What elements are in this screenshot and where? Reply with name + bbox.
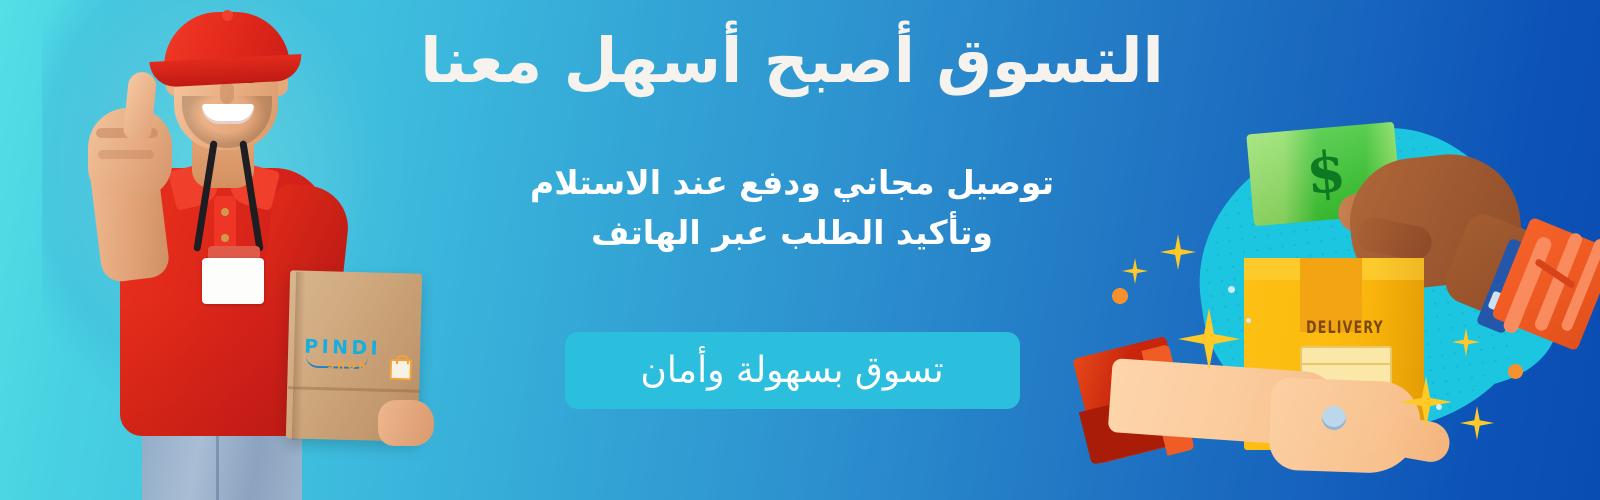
sparkle-icon-right-large bbox=[1400, 376, 1452, 428]
cta-row: تسوق بسهولة وأمان bbox=[396, 332, 1188, 409]
nose bbox=[220, 82, 234, 104]
shop-now-button[interactable]: تسوق بسهولة وأمان bbox=[565, 332, 1020, 409]
sparkle-icon-right-mid bbox=[1460, 406, 1494, 440]
id-badge bbox=[202, 258, 264, 304]
page-title: التسوق أصبح أسهل معنا bbox=[396, 18, 1188, 104]
promo-banner: PINDI SHOP $ DELIVERY bbox=[0, 0, 1600, 500]
logo-subtext: SHOP bbox=[328, 361, 369, 372]
orange-dot-right bbox=[1508, 364, 1523, 379]
subheading: توصيل مجاني ودفع عند الاستلام وتأكيد الط… bbox=[396, 158, 1188, 258]
delivery-man-photo: PINDI SHOP bbox=[42, 0, 402, 500]
shirt-button-bottom bbox=[221, 234, 229, 242]
delivery-text: DELIVERY bbox=[1292, 318, 1399, 342]
knuckle-line-lower bbox=[98, 150, 154, 159]
smile bbox=[202, 104, 254, 124]
cap-button bbox=[222, 10, 233, 21]
white-dot-2 bbox=[1246, 318, 1251, 323]
subheading-line-2: وتأكيد الطلب عبر الهاتف bbox=[396, 208, 1188, 258]
dollar-sign-icon: $ bbox=[1303, 140, 1348, 205]
white-dot-3 bbox=[1436, 404, 1442, 410]
banner-content: التسوق أصبح أسهل معنا توصيل مجاني ودفع ع… bbox=[396, 0, 1188, 500]
subheading-line-1: توصيل مجاني ودفع عند الاستلام bbox=[396, 158, 1188, 208]
white-dot-1 bbox=[1228, 286, 1235, 293]
sparkle-icon-right-small bbox=[1452, 328, 1480, 356]
shirt-button-top bbox=[221, 208, 229, 216]
ring-icon bbox=[1322, 406, 1346, 430]
